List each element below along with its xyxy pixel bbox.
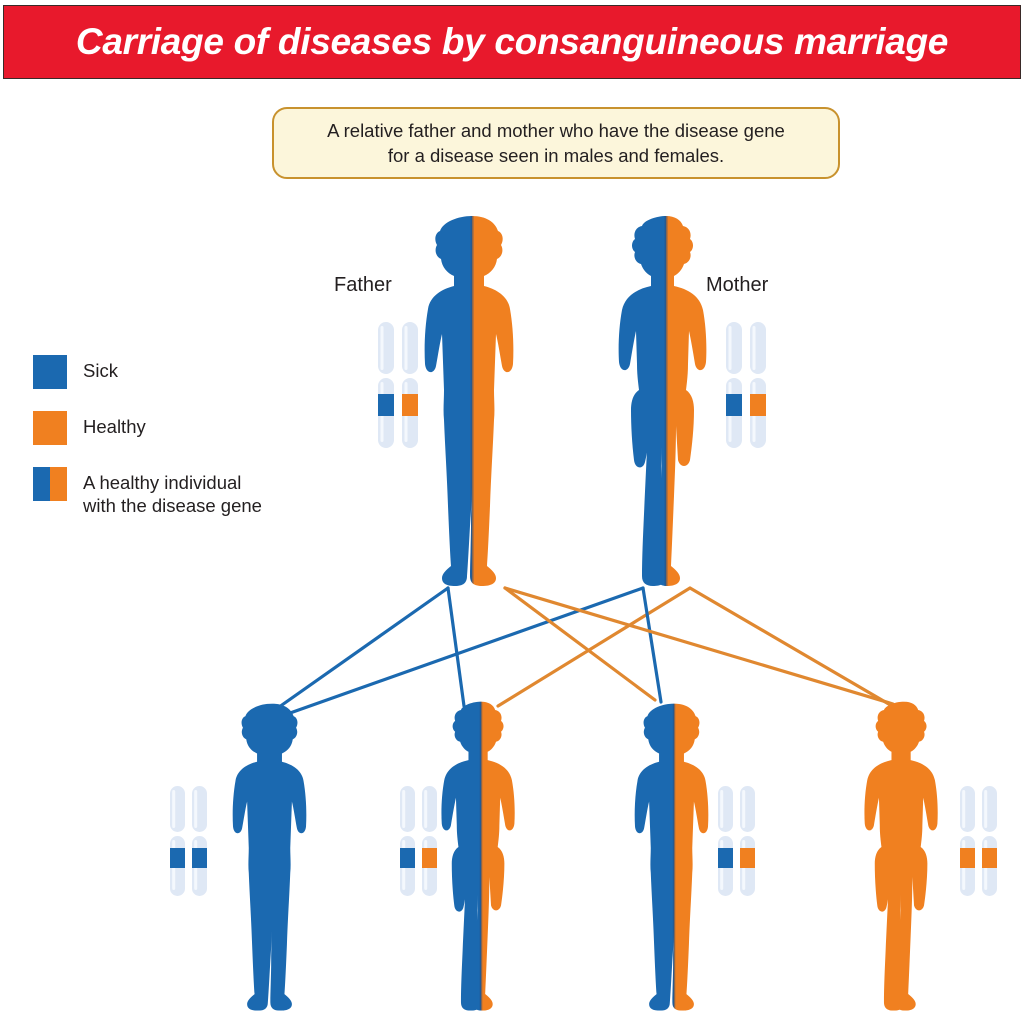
chromosome-pair-mother	[726, 322, 776, 448]
chromosome-pair-child-1	[170, 786, 216, 896]
line-father-orange-to-child-4	[505, 588, 893, 704]
line-father-orange-to-child-3	[505, 588, 655, 700]
line-mother-orange-to-child-2	[498, 588, 690, 706]
figure-mother	[618, 214, 714, 590]
line-father-blue-to-child-1	[272, 588, 448, 712]
line-mother-orange-to-child-4	[690, 588, 899, 710]
figure-child-4	[862, 700, 946, 1014]
figure-child-3	[634, 702, 714, 1014]
label-father: Father	[334, 274, 392, 297]
line-mother-blue-to-child-3	[643, 588, 661, 702]
label-mother: Mother	[706, 274, 768, 297]
figure-father	[424, 214, 520, 590]
pedigree-diagram: Father Mother	[0, 0, 1024, 1014]
figure-child-1	[228, 702, 316, 1014]
chromosome-pair-child-4	[960, 786, 1006, 896]
figure-child-2	[440, 700, 522, 1014]
chromosome-pair-father	[378, 322, 428, 448]
line-father-blue-to-child-2	[448, 588, 464, 706]
chromosome-pair-child-3	[718, 786, 764, 896]
line-mother-blue-to-child-1	[276, 588, 643, 718]
